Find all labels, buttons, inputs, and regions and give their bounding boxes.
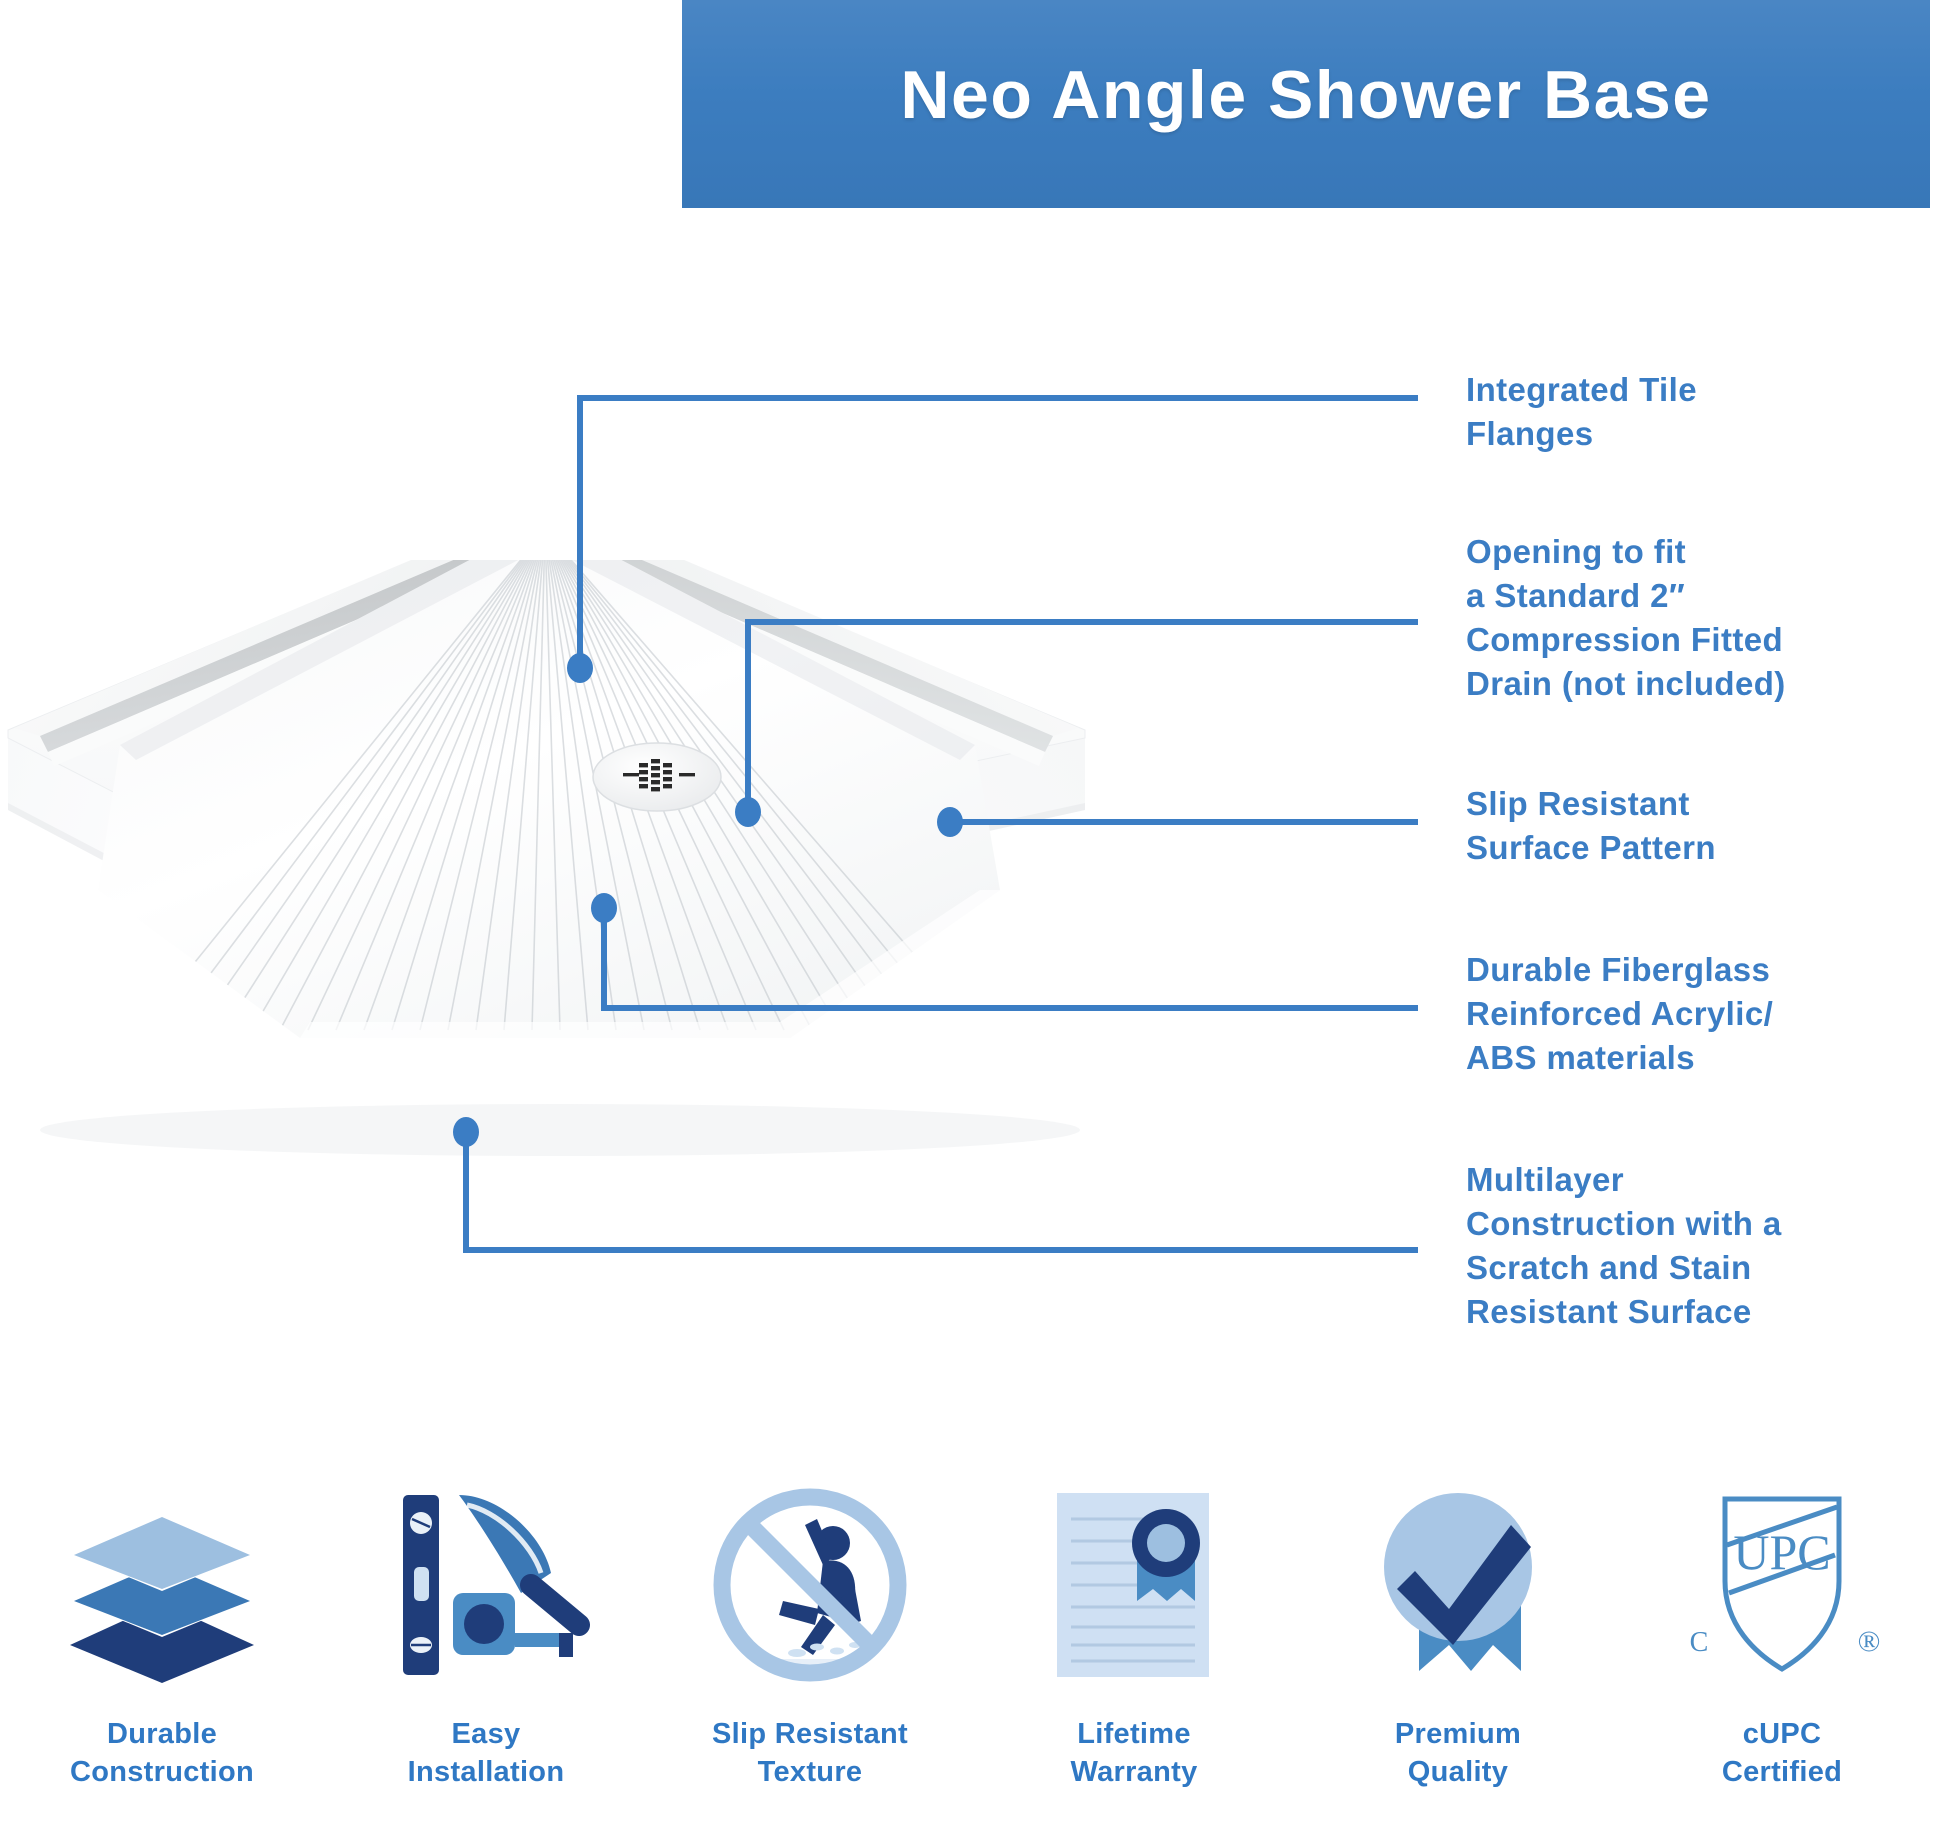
feature-label: Lifetime Warranty [1070, 1716, 1197, 1791]
upc-left-mark: C [1690, 1627, 1709, 1658]
callout-drain-opening: Opening to fit a Standard 2″ Compression… [1466, 530, 1786, 706]
feature-label: Slip Resistant Texture [712, 1716, 908, 1791]
upc-shield-icon: UPC C ® [1677, 1480, 1887, 1690]
feature-label: Durable Construction [70, 1716, 254, 1791]
callout-integrated-tile-flanges: Integrated Tile Flanges [1466, 368, 1697, 456]
feature-cupc-certified: UPC C ® cUPC Certified [1620, 1480, 1944, 1830]
feature-row: Durable Construction [0, 1480, 1944, 1830]
product-infographic: Neo Angle Shower Base [0, 0, 1944, 1830]
feature-premium-quality: Premium Quality [1296, 1480, 1620, 1830]
feature-easy-installation: Easy Installation [324, 1480, 648, 1830]
no-slip-icon [705, 1480, 915, 1690]
level-trowel-icon [381, 1480, 591, 1690]
feature-lifetime-warranty: Lifetime Warranty [972, 1480, 1296, 1830]
drain-cover [593, 743, 721, 811]
feature-label: cUPC Certified [1722, 1716, 1842, 1791]
callout-slip-resistant-surface: Slip Resistant Surface Pattern [1466, 782, 1716, 870]
product-image [0, 560, 1420, 1180]
callout-multilayer-construction: Multilayer Construction with a Scratch a… [1466, 1158, 1782, 1334]
feature-label: Easy Installation [408, 1716, 565, 1791]
feature-slip-resistant-texture: Slip Resistant Texture [648, 1480, 972, 1830]
upc-right-mark: ® [1858, 1625, 1881, 1658]
page-title: Neo Angle Shower Base [900, 56, 1711, 152]
check-ribbon-icon [1353, 1480, 1563, 1690]
header-banner: Neo Angle Shower Base [682, 0, 1930, 208]
feature-label: Premium Quality [1395, 1716, 1521, 1791]
upc-shield-text: UPC [1733, 1524, 1830, 1580]
callout-durable-materials: Durable Fiberglass Reinforced Acrylic/ A… [1466, 948, 1773, 1080]
certificate-icon [1029, 1480, 1239, 1690]
layers-icon [57, 1480, 267, 1690]
slip-resistant-surface [98, 560, 1000, 1038]
feature-durable-construction: Durable Construction [0, 1480, 324, 1830]
